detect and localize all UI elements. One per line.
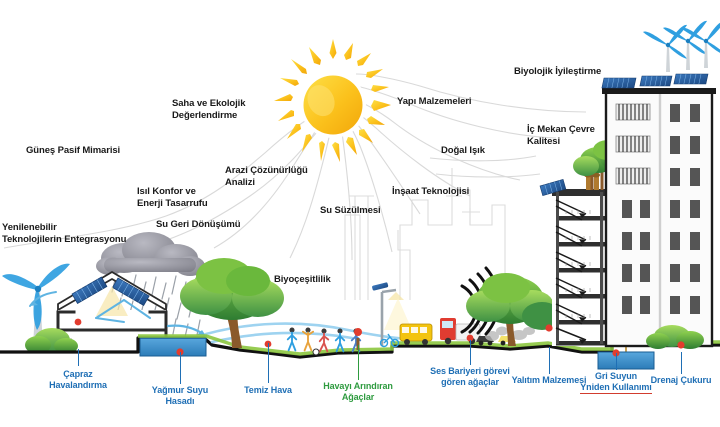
label-yapi-malzemeleri: Yapı Malzemeleri (397, 96, 471, 108)
label-ses-bariyeri[interactable]: Ses Bariyeri görevi gören ağaçlar (430, 366, 510, 388)
label-ic-mekan-cevre-kalitesi: İç Mekan Çevre Kalitesi (527, 124, 595, 147)
label-isil-konfor: Isıl Konfor ve Enerji Tasarrufu (137, 186, 208, 209)
label-arazi-cozunurlugu: Arazi Çözünürlüğü Analizi (225, 165, 308, 188)
leader-line-yagmur-suyu-hasadi (180, 352, 181, 384)
label-su-geri-donusumu: Su Geri Dönüşümü (156, 219, 240, 231)
hotspot-marker (354, 328, 362, 336)
leader-line-havayi-arindiran (358, 345, 359, 380)
solar-panel-icon (602, 74, 708, 88)
label-drenaj-cukuru[interactable]: Drenaj Çukuru (641, 375, 720, 386)
leader-line-gri-suyun-yeniden (616, 353, 617, 370)
wind-turbine-icon (643, 21, 720, 72)
hotspot-marker (545, 324, 552, 331)
leader-line-drenaj-cukuru (681, 352, 682, 374)
label-insaat-teknolojisi: İnşaat Teknolojisi (392, 186, 469, 198)
leader-line-yalitim-malzemesi (549, 347, 550, 374)
leader-line-temiz-hava (268, 343, 269, 383)
label-biyocesitlilik: Biyoçeşitlilik (274, 274, 331, 286)
infographic-canvas: Güneş Pasif MimarisiSaha ve Ekolojik Değ… (0, 0, 720, 427)
label-yagmur-suyu-hasadi[interactable]: Yağmur Suyu Hasadı (140, 385, 220, 407)
label-capraz-havalandirma[interactable]: Çapraz Havalandırma (38, 369, 118, 391)
sun-icon (274, 39, 391, 162)
hotspot-marker (75, 319, 82, 326)
label-havayi-arindiran[interactable]: Havayı Arındıran Ağaçlar (318, 381, 398, 403)
label-gunes-pasif-mimarisi: Güneş Pasif Mimarisi (26, 145, 120, 157)
label-yenilenebilir-teknolojiler: Yenilenebilir Teknolojilerin Entegrasyon… (2, 222, 126, 245)
leader-line-capraz-havalandirma (78, 349, 79, 366)
label-su-suzulmesi: Su Süzülmesi (320, 205, 381, 217)
label-dogal-isik: Doğal Işık (441, 145, 485, 157)
water-basin (140, 338, 206, 356)
residential-tower (602, 21, 720, 346)
label-temiz-hava[interactable]: Temiz Hava (228, 385, 308, 396)
leader-line-ses-bariyeri (470, 340, 471, 365)
label-biyolojik-iyilestirme: Biyolojik İyileştirme (514, 66, 601, 78)
greywater-tank (598, 349, 654, 369)
label-saha-ve-ekolojik: Saha ve Ekolojik Değerlendirme (172, 98, 245, 121)
hotspot-marker (677, 341, 684, 348)
